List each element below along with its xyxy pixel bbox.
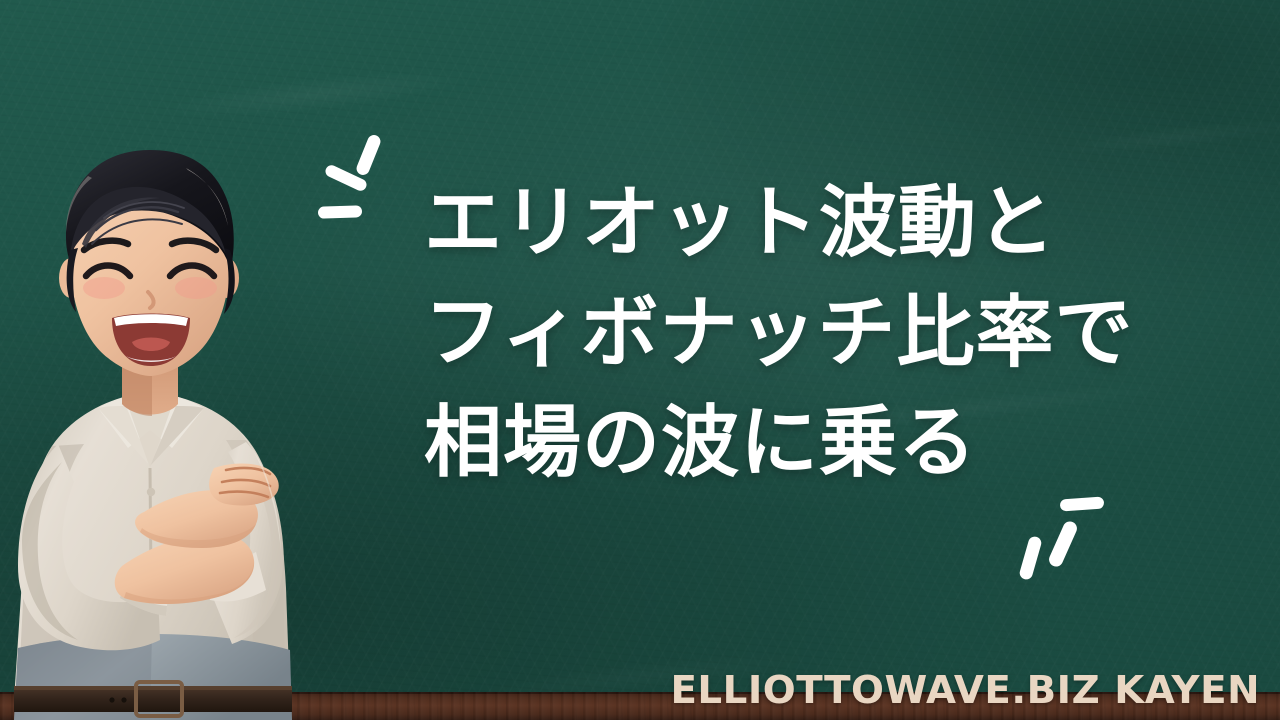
sparkle-dash [355,133,383,177]
thumbnail-canvas: エリオット波動と フィボナッチ比率で 相場の波に乗る ELLIOTTOWAVE.… [0,0,1280,720]
belt-highlight [14,686,292,690]
sparkle-lines-icon-top-left [318,128,428,228]
branding-watermark: ELLIOTTOWAVE.BIZ KAYEN [670,668,1260,712]
blush-left [83,277,125,299]
headline-line-1: エリオット波動と [424,168,1204,278]
laughing-man-illustration [0,0,300,720]
sparkle-dash [1047,519,1079,569]
headline-title: エリオット波動と フィボナッチ比率で 相場の波に乗る [424,168,1204,498]
sparkle-dash [318,205,362,219]
blush-right [175,277,217,299]
headline-line-3: 相場の波に乗る [424,388,1204,498]
belt-hole [109,697,114,702]
sparkle-dash [1060,496,1105,511]
sparkle-dash [1018,535,1043,581]
shirt-button [147,488,155,496]
sparkle-lines-icon-bottom-right [1018,488,1128,588]
belt-hole [121,697,126,702]
headline-line-2: フィボナッチ比率で [424,278,1204,388]
